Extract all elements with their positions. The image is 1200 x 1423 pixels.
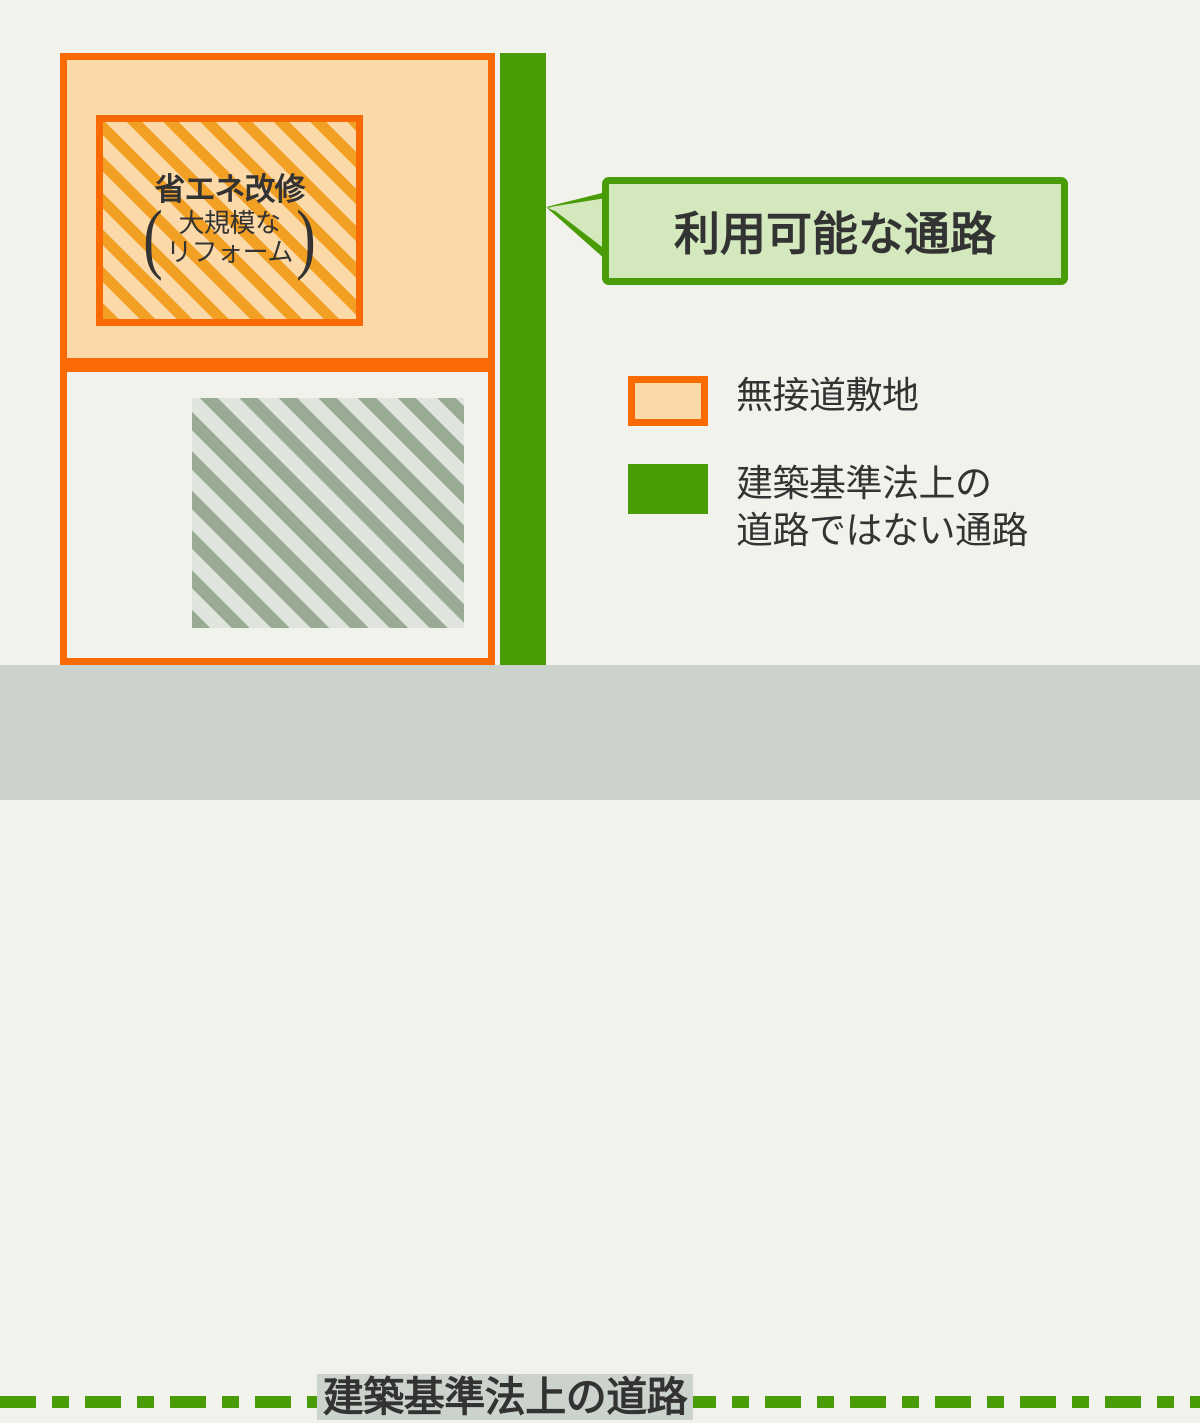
existing-building-hatch [192, 398, 464, 628]
legend-swatch-passage [628, 464, 708, 514]
legend-label-site: 無接道敷地 [736, 372, 919, 419]
callout-tail-icon [540, 188, 610, 268]
road-label-wrapper: 建築基準法上の道路 [0, 1363, 1105, 1423]
renovation-subtitle: ( 大規模な リフォーム ) [140, 209, 319, 267]
callout-available-passage: 利用可能な通路 [602, 177, 1068, 285]
legend-swatch-site [628, 376, 708, 426]
legend-item-site: 無接道敷地 [628, 372, 1168, 426]
legend: 無接道敷地 建築基準法上の 道路ではない通路 [628, 372, 1168, 589]
renovation-title: 省エネ改修 [155, 174, 305, 207]
renovation-subtitle-line-2: リフォーム [166, 238, 293, 267]
diagram-canvas: 省エネ改修 ( 大規模な リフォーム ) 利用可能な通路 無接道敷地 建築基準法… [0, 0, 1200, 849]
private-passage-strip [500, 53, 546, 665]
legend-item-passage: 建築基準法上の 道路ではない通路 [628, 460, 1168, 555]
renovation-subtitle-lines: 大規模な リフォーム [166, 209, 293, 267]
legal-road-strip: 建築基準法上の道路 [0, 665, 1200, 800]
energy-renovation-block: 省エネ改修 ( 大規模な リフォーム ) [96, 115, 363, 326]
paren-close: ) [296, 210, 315, 266]
road-label: 建築基準法上の道路 [317, 1374, 694, 1420]
callout-label: 利用可能な通路 [674, 198, 996, 264]
paren-open: ( [143, 210, 162, 266]
renovation-subtitle-line-1: 大規模な [178, 209, 280, 238]
legend-label-passage: 建築基準法上の 道路ではない通路 [736, 460, 1028, 555]
